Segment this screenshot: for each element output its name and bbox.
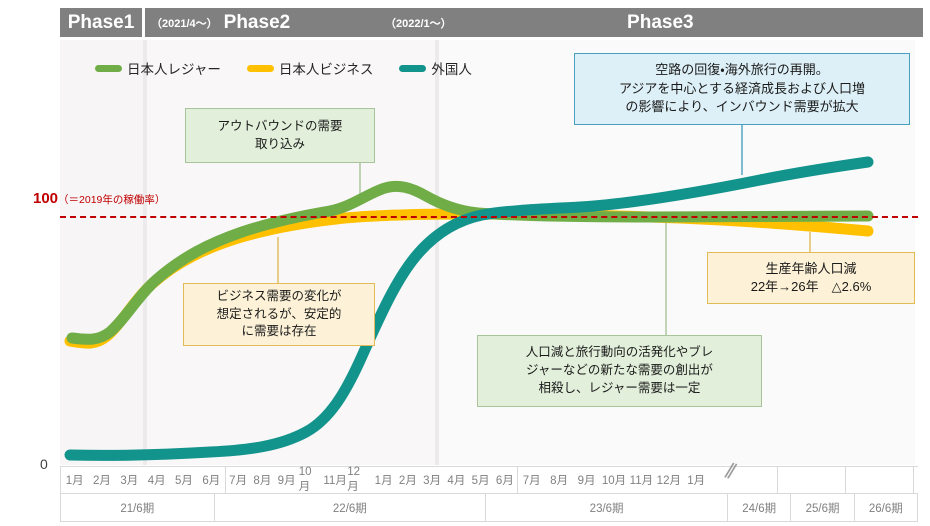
- chart-legend: 日本人レジャー 日本人ビジネス 外国人: [95, 58, 472, 78]
- axis-zero-label: 0: [40, 456, 48, 472]
- baseline-value: 100: [33, 190, 58, 207]
- legend-item-japanese-leisure[interactable]: 日本人レジャー: [95, 58, 221, 78]
- legend-swatch-icon-green: [95, 65, 122, 72]
- legend-item-japanese-business[interactable]: 日本人ビジネス: [247, 58, 374, 78]
- callout-inbound: 空路の回復・海外旅行の再開。 アジアを中心とする経済成長および人口増 の影響によ…: [574, 53, 910, 125]
- legend-item-foreigners[interactable]: 外国人: [399, 58, 472, 78]
- legend-swatch-icon-yellow: [247, 65, 274, 72]
- legend-swatch-icon-teal: [399, 65, 426, 72]
- legend-label-japanese-leisure: 日本人レジャー: [127, 58, 221, 78]
- baseline-note: （＝2019年の稼働率）: [58, 194, 165, 206]
- baseline-100-line: [60, 216, 918, 218]
- callout-business: ビジネス需要の変化が 想定されるが、安定的 に需要は存在: [183, 283, 375, 346]
- legend-label-foreigners: 外国人: [431, 58, 472, 78]
- callout-population: 生産年齢人口減 22年→26年 △2.6%: [707, 252, 915, 304]
- legend-label-japanese-business: 日本人ビジネス: [279, 58, 374, 78]
- callout-outbound: アウトバウンドの需要 取り込み: [185, 108, 375, 163]
- baseline-100-label: 100（＝2019年の稼働率）: [33, 190, 165, 207]
- chart-canvas: Phase1 （2021/4～） Phase2 （2022/1～） Phase3…: [0, 0, 930, 526]
- callout-leisure: 人口減と旅行動向の活発化やブレ ジャーなどの新たな需要の創出が 相殺し、レジャー…: [477, 335, 762, 407]
